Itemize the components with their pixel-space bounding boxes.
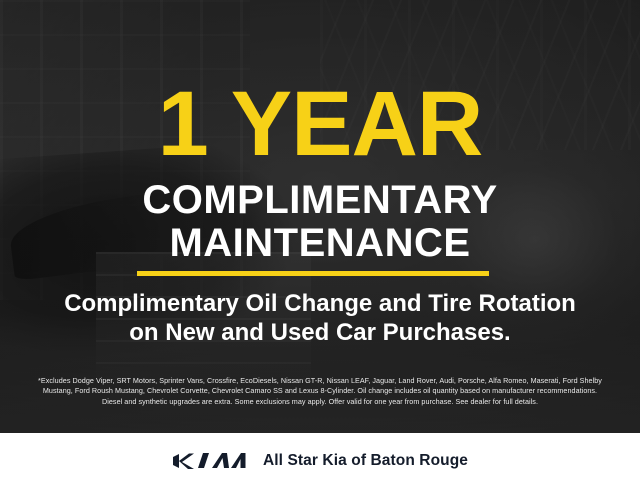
dealer-name: All Star Kia of Baton Rouge [263, 452, 468, 470]
offer-description-line-1: Complimentary Oil Change and Tire Rotati… [0, 289, 640, 318]
banner-content: 1 YEAR COMPLIMENTARY MAINTENANCE Complim… [0, 0, 640, 433]
disclaimer-fine-print: *Excludes Dodge Viper, SRT Motors, Sprin… [16, 376, 624, 407]
headline-one-year: 1 YEAR [0, 78, 640, 170]
promotional-banner: 1 YEAR COMPLIMENTARY MAINTENANCE Complim… [0, 0, 640, 488]
offer-description: Complimentary Oil Change and Tire Rotati… [0, 289, 640, 347]
offer-description-line-2: on New and Used Car Purchases. [0, 318, 640, 347]
kia-logo [172, 451, 246, 471]
disclaimer-line-3: Diesel and synthetic upgrades are extra.… [16, 397, 624, 407]
yellow-divider-rule [137, 271, 489, 276]
subheading-maintenance: MAINTENANCE [0, 221, 640, 265]
disclaimer-line-1: *Excludes Dodge Viper, SRT Motors, Sprin… [16, 376, 624, 386]
dealer-footer-bar: All Star Kia of Baton Rouge [0, 433, 640, 488]
disclaimer-line-2: Mustang, Ford Roush Mustang, Chevrolet C… [16, 386, 624, 396]
subheading-complimentary: COMPLIMENTARY [0, 178, 640, 222]
